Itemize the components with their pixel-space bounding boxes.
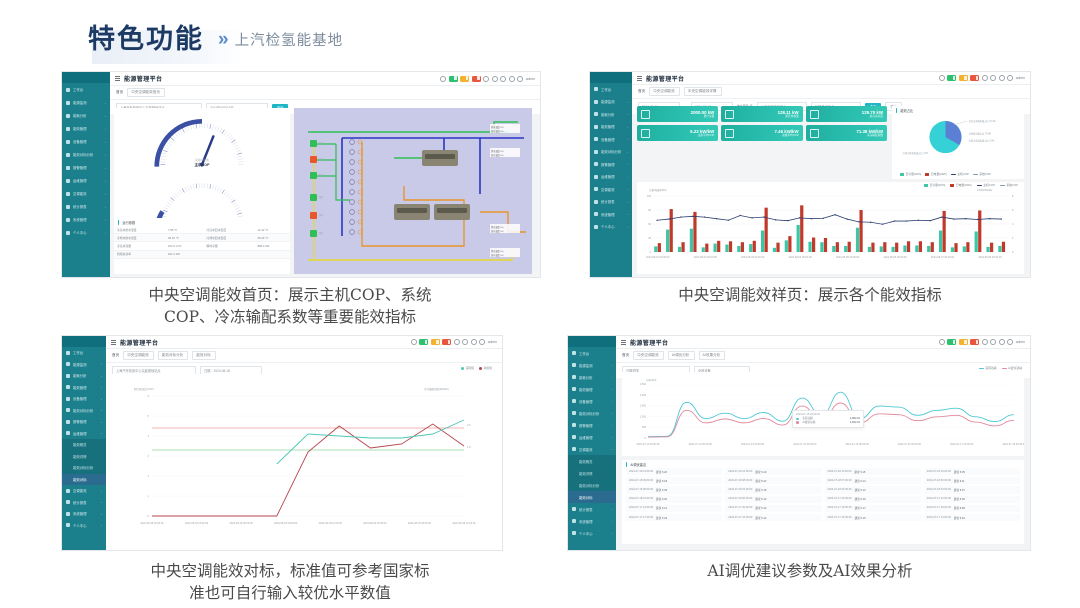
pie-chart-svg: 冷冻水泵耗电量占比 20.4% 主机耗电量占比 79.6% 冷却水泵耗电量占比 … (892, 113, 1024, 163)
sidebar-item-0[interactable]: 工作台 (62, 83, 110, 96)
breadcrumb-current[interactable]: 中央空调能效详情 (684, 87, 722, 96)
grid-icon[interactable] (982, 75, 988, 81)
ai-log-title: AI调优建议 (622, 460, 1024, 468)
chevron-right-icon: › (611, 519, 612, 523)
sidebar-item-label: 能效对标分析 (73, 152, 93, 157)
sidebar-item-label: 空调能效 (73, 191, 87, 196)
sidebar-item-icon (66, 374, 70, 378)
bell-icon[interactable] (990, 75, 996, 81)
caption-panel1: 中央空调能效首页：展示主机COP、系统COP、冷冻输配系数等重要能效指标 (78, 284, 502, 329)
sidebar-item-6[interactable]: 报警管理› (62, 161, 110, 174)
kpi-label: 总冷冻水量 (862, 115, 883, 118)
sidebar-item-3[interactable]: 能效管理› (568, 383, 616, 395)
log-value: 建议 5.18 (656, 479, 667, 483)
legend-item: 日电量(kWh) (950, 183, 971, 187)
svg-text:泵5: 泵5 (319, 213, 324, 217)
sidebar-item-9[interactable]: 统计报表› (590, 196, 632, 209)
log-timestamp: 2024-07-17 23:00:00 (828, 497, 852, 501)
grid-icon[interactable] (454, 339, 460, 345)
sidebar-item-7[interactable]: 运维管理› (590, 171, 632, 184)
svg-text:2024-07-13 00:00:00: 2024-07-13 00:00:00 (741, 443, 765, 446)
sidebar-item-label: 设备管理 (73, 139, 87, 144)
app-title: 能源管理平台 (120, 338, 158, 347)
log-row-14: 2024-07-17 23:00:00建议 5.19 (825, 496, 921, 503)
sidebar-item-7[interactable]: 运维管理› (62, 174, 110, 187)
sidebar-item-8[interactable]: 空调能效› (62, 485, 106, 497)
svg-text:6: 6 (1012, 209, 1014, 212)
svg-text:2024-07-15 00:00:00: 2024-07-15 00:00:00 (846, 443, 870, 446)
lock-icon[interactable] (1007, 75, 1013, 81)
chevron-right-icon: › (627, 125, 628, 129)
chevron-right-icon: › (105, 153, 106, 157)
sidebar-item-icon (66, 114, 70, 118)
sidebar-item-label: 工作台 (601, 87, 611, 92)
badge-green-icon[interactable] (947, 339, 956, 345)
page-subtitle: 上汽检氢能基地 (235, 29, 344, 50)
chevron-right-icon: › (627, 225, 628, 229)
sidebar-item-8[interactable]: 空调能效› (568, 443, 616, 455)
sidebar-item-label: 报警管理 (579, 423, 593, 428)
sidebar-item-label: 报警管理 (73, 419, 87, 424)
table-row: 冷却水供水温度30.10 ℃冷却水回水温度35.26 ℃ (114, 234, 290, 242)
chevron-right-icon: › (611, 507, 612, 511)
sidebar-item-icon (594, 225, 598, 229)
page-title: 特色功能 (88, 26, 204, 53)
sidebar-item-6[interactable]: 报警管理› (590, 158, 632, 171)
svg-text:500: 500 (642, 426, 647, 429)
svg-text:1,000: 1,000 (640, 415, 647, 418)
kpi-text: 5.23 kW/kW主机平均COP (690, 129, 714, 138)
sidebar-item-icon (594, 200, 598, 204)
table-cell: 12.42 ℃ (254, 226, 290, 234)
chevron-right-icon: › (611, 375, 612, 379)
sidebar-item-5[interactable]: 能效对标分析› (62, 148, 110, 161)
menu-toggle-icon[interactable] (111, 340, 116, 345)
log-timestamp: 2024-07-18 00:00:00 (728, 497, 752, 501)
log-row-22: 2024-07-17 15:00:00建议 5.15 (825, 514, 921, 521)
svg-text:2024-07-11 00:00:00: 2024-07-11 00:00:00 (636, 443, 660, 446)
table-cell: 7.85 ℃ (165, 226, 204, 234)
menu-toggle-icon[interactable] (621, 340, 626, 345)
log-timestamp: 2024-07-18 10:00:00 (927, 470, 951, 474)
svg-text:30: 30 (648, 237, 651, 240)
chevron-right-icon: › (611, 363, 612, 367)
screenshot-panel-1: 工作台能源监测›能耗分析›能效管理›设备管理›能效对标分析›报警管理›运维管理›… (62, 72, 540, 277)
breadcrumb-l3[interactable]: 能效对标分析 (158, 351, 189, 360)
chevron-right-icon: › (105, 231, 106, 235)
sidebar-item-icon (66, 385, 70, 389)
chevron-right-icon: › (101, 408, 102, 412)
log-row-19: 2024-07-17 18:00:00建议 5.08 (924, 505, 1020, 512)
search-icon[interactable] (939, 75, 945, 81)
fullscreen-icon[interactable] (471, 339, 477, 345)
sidebar-item-4[interactable]: 设备管理› (568, 395, 616, 407)
bell-icon[interactable] (990, 339, 996, 345)
svg-text:4: 4 (148, 435, 150, 438)
log-timestamp: 2024-07-17 21:00:00 (629, 506, 653, 510)
topbar-actions: admin (939, 339, 1025, 345)
sidebar-item-icon (572, 531, 576, 535)
ai-chart-legend: 实际功耗 AI建议功耗 (979, 366, 1022, 370)
kpi-card-4[interactable]: 7.46 kW/kW系统平均COP (721, 125, 802, 141)
bell-icon[interactable] (462, 339, 468, 345)
breadcrumb-home[interactable]: 首页 (638, 89, 645, 94)
caption-panel4: AI调优建议参数及AI效果分析 (600, 560, 1020, 582)
log-timestamp: 2024-07-18 02:00:00 (927, 488, 951, 492)
user-name[interactable]: admin (488, 340, 497, 344)
flow-diagram[interactable]: 泵1泵2泵3泵4泵5泵6 供水温度 0.0回水温度 0.0供水温度 0.0回水温… (294, 108, 532, 274)
sidebar-subitem-1[interactable]: 能效详情 (62, 451, 106, 463)
legend-item: AI建议功耗 (1002, 366, 1022, 370)
badge-red-icon[interactable] (442, 339, 451, 345)
sidebar-subitem-3[interactable]: 能效对标 (62, 474, 106, 486)
table-cell: 冷却水回水温度 (204, 234, 255, 242)
chevron-right-icon: › (611, 423, 612, 427)
breadcrumb-l2[interactable]: 中央空调能效 (649, 87, 680, 96)
sidebar-item-5[interactable]: 能效对标分析› (590, 146, 632, 159)
kpi-card-5[interactable]: 71.38 kW/kW冷冻输配系数 (806, 125, 887, 141)
sidebar-item-label: 系统管理 (579, 519, 593, 524)
chevron-double-right-icon: » (218, 29, 226, 51)
badge-yellow-icon[interactable] (959, 339, 968, 345)
chevron-right-icon: › (611, 531, 612, 535)
log-value: 建议 5.07 (954, 488, 965, 492)
kpi-label: 主机平均COP (690, 134, 714, 137)
breadcrumb: 首页 中央空调能效 能效对标分析 能效对标 (106, 349, 502, 363)
svg-text:泵4: 泵4 (319, 195, 324, 199)
grid-icon[interactable] (483, 76, 489, 82)
user-name[interactable]: admin (526, 77, 535, 81)
svg-text:2024-08-02 00:00:00: 2024-08-02 00:00:00 (694, 256, 718, 259)
lock-icon[interactable] (1007, 339, 1013, 345)
sidebar-item-10[interactable]: 系统管理› (590, 208, 632, 221)
chevron-right-icon: › (627, 212, 628, 216)
params-table-title: 运行参数 (114, 218, 290, 226)
chevron-right-icon: › (105, 114, 106, 118)
menu-toggle-icon[interactable] (637, 76, 642, 81)
topbar: 能源管理平台 admin (632, 72, 1030, 85)
y2-axis-label: COP(kW/kW) (977, 189, 992, 192)
sidebar-item-9[interactable]: 统计报表› (62, 200, 110, 213)
sidebar-item-label: 系统管理 (601, 212, 615, 217)
main-area: 能源管理平台 admin 首页 中央空调能效首页 (110, 72, 540, 277)
sidebar-item-2[interactable]: 能耗分析› (568, 371, 616, 383)
sidebar-item-3[interactable]: 能效管理› (62, 382, 106, 394)
sidebar: 工作台能源监测›能耗分析›能效管理›设备管理›能效对标分析›报警管理›运维管理›… (62, 336, 106, 550)
badge-red-icon[interactable] (472, 76, 481, 82)
table-cell: 35.26 ℃ (254, 234, 290, 242)
main-area: 能源管理平台 admin 首页 中央空调能效 中央空调能效详情 (632, 72, 1030, 277)
snow-icon (641, 110, 650, 119)
badge-yellow-icon[interactable] (431, 339, 440, 345)
sidebar-item-0[interactable]: 工作台 (568, 347, 616, 359)
sidebar-item-label: 个人中心 (601, 224, 615, 229)
svg-text:2024-08-18 15:00:00: 2024-08-18 15:00:00 (363, 522, 387, 525)
ai-effect-chart[interactable]: 05001,0001,5002,0002,500 2024-07-11 00:0… (622, 372, 1024, 456)
sidebar-item-icon (66, 231, 70, 235)
sidebar-item-0[interactable]: 工作台 (62, 347, 106, 359)
lock-icon[interactable] (509, 76, 515, 82)
chevron-right-icon: › (611, 411, 612, 415)
svg-text:1: 1 (148, 495, 150, 498)
table-cell: 冷冻水回水温度 (204, 226, 255, 234)
grid-icon[interactable] (982, 339, 988, 345)
sidebar-item-10[interactable]: 系统管理› (62, 213, 110, 226)
legend-item: 系统COP (1000, 183, 1018, 187)
main-area: 能源管理平台 admin 首页 中央空调能效 AI调优分析 AI效果分析 (616, 336, 1030, 550)
table-cell (254, 250, 290, 258)
sidebar-item-2[interactable]: 能耗分析› (590, 108, 632, 121)
sidebar-item-label: 空调能效 (73, 488, 87, 493)
log-timestamp: 2024-07-18 01:00:00 (629, 497, 653, 501)
sidebar-item-label: 能耗分析 (601, 112, 615, 117)
badge-green-icon[interactable] (419, 339, 428, 345)
sidebar-item-icon (594, 150, 598, 154)
sidebar-item-icon (594, 212, 598, 216)
energy-bar-chart[interactable]: 0306090120 2024-08-01 00:00:002024-08-02… (637, 182, 1024, 274)
sidebar-item-9[interactable]: 统计报表› (568, 503, 616, 515)
chevron-right-icon: › (105, 218, 106, 222)
chevron-right-icon: › (105, 101, 106, 105)
sidebar-item-icon (572, 387, 576, 391)
badge-red-icon[interactable] (970, 75, 979, 81)
sidebar-item-2[interactable]: 能耗分析› (62, 109, 110, 122)
badge-green-icon[interactable] (947, 75, 956, 81)
sidebar-item-3[interactable]: 能效管理› (590, 121, 632, 134)
sidebar-item-icon (572, 399, 576, 403)
sidebar-item-10[interactable]: 系统管理› (568, 515, 616, 527)
sidebar-item-label: 统计报表 (579, 507, 593, 512)
sidebar-item-4[interactable]: 设备管理› (62, 393, 106, 405)
chevron-right-icon: › (101, 397, 102, 401)
badge-green-icon[interactable] (449, 76, 458, 82)
sidebar-item-8[interactable]: 空调能效› (62, 187, 110, 200)
breadcrumb-current[interactable]: 中央空调能效首页 (127, 88, 165, 97)
sidebar-item-label: 能源监测 (73, 362, 87, 367)
screenshot-panel-3: 工作台能源监测›能耗分析›能效管理›设备管理›能效对标分析›报警管理›运维管理›… (62, 336, 502, 550)
breadcrumb-current[interactable]: AI效果分析 (699, 351, 726, 360)
sidebar-item-11[interactable]: 个人中心› (590, 221, 632, 234)
log-value: 建议 5.15 (854, 470, 865, 474)
svg-text:2024-08-05 00:00:00: 2024-08-05 00:00:00 (836, 256, 860, 259)
sidebar-item-icon (572, 423, 576, 427)
sidebar-item-label: 个人中心 (73, 523, 87, 528)
sidebar-item-label: 能效管理 (601, 124, 615, 129)
sidebar-item-icon (66, 512, 70, 516)
sidebar-subitem-1[interactable]: 能效详情 (568, 467, 616, 479)
help-icon[interactable] (517, 76, 523, 82)
svg-text:5: 5 (148, 415, 150, 418)
legend-item: 实际值 (461, 366, 474, 370)
menu-toggle-icon[interactable] (115, 76, 120, 81)
sidebar-item-6[interactable]: 报警管理› (62, 416, 106, 428)
svg-text:2024-08-18 12:00:00: 2024-08-18 12:00:00 (319, 522, 343, 525)
sidebar-item-label: 运维管理 (73, 178, 87, 183)
bell-icon[interactable] (492, 76, 498, 82)
sidebar-item-icon (572, 411, 576, 415)
sidebar-item-icon (594, 100, 598, 104)
badge-yellow-icon[interactable] (959, 75, 968, 81)
search-icon[interactable] (440, 76, 446, 82)
sidebar-item-1[interactable]: 能源监测› (590, 96, 632, 109)
log-value: 建议 5.11 (954, 479, 965, 483)
legend-item: 对标值 (479, 366, 492, 370)
sidebar-item-icon (594, 162, 598, 166)
breadcrumb-home[interactable]: 首页 (622, 353, 629, 358)
sidebar-item-5[interactable]: 能效对标分析› (62, 405, 106, 417)
chevron-right-icon: › (611, 399, 612, 403)
log-timestamp: 2024-07-18 09:00:00 (629, 479, 653, 483)
chevron-right-icon: › (101, 489, 102, 493)
sidebar-item-3[interactable]: 能效管理› (62, 122, 110, 135)
fullscreen-icon[interactable] (500, 76, 506, 82)
log-timestamp: 2024-07-17 22:00:00 (927, 497, 951, 501)
sidebar-item-4[interactable]: 设备管理› (62, 135, 110, 148)
sidebar-item-9[interactable]: 统计报表› (62, 497, 106, 509)
sidebar-subitem-0[interactable]: 能效概览 (568, 455, 616, 467)
svg-text:2024-08-01 00:00:00: 2024-08-01 00:00:00 (646, 256, 670, 259)
chevron-right-icon: › (627, 100, 628, 104)
log-timestamp: 2024-07-17 18:00:00 (927, 506, 951, 510)
sidebar-item-icon (594, 87, 598, 91)
chevron-right-icon: › (105, 179, 106, 183)
sidebar-item-label: 工作台 (73, 350, 83, 355)
sidebar-item-0[interactable]: 工作台 (590, 83, 632, 96)
sidebar-item-7[interactable]: 运维管理› (62, 428, 106, 440)
svg-text:泵2: 泵2 (319, 157, 324, 161)
sidebar-item-1[interactable]: 能源监测› (568, 359, 616, 371)
sidebar-subitem-label: 能效对标分析 (579, 483, 599, 488)
legend-item: 日冷量(kWh) (924, 183, 945, 187)
kpi-label: 累计冷量 (691, 115, 715, 118)
sidebar-subitem-label: 能效详情 (579, 471, 593, 476)
log-row-2: 2024-07-18 11:00:00建议 5.15 (825, 468, 921, 475)
log-value: 建议 5.16 (755, 488, 766, 492)
log-row-0: 2024-07-18 13:00:00建议 5.20 (626, 468, 722, 475)
sidebar-item-7[interactable]: 运维管理› (568, 431, 616, 443)
sidebar-subitem-3[interactable]: 能效对标 (568, 491, 616, 503)
pie-legend: 日冷量(kWh) 日电量(kWh) 主机COP 系统COP (900, 172, 991, 176)
sidebar-item-1[interactable]: 能源监测› (62, 96, 110, 109)
log-row-11: 2024-07-18 02:00:00建议 5.07 (924, 486, 1020, 493)
main-area: 能源管理平台 admin 首页 中央空调能效 能效对标分析 能效对标 (106, 336, 502, 550)
sidebar-item-icon (66, 523, 70, 527)
sidebar-subitem-0[interactable]: 能效概览 (62, 439, 106, 451)
topbar-actions: admin (939, 75, 1025, 81)
user-name[interactable]: admin (1016, 340, 1025, 344)
log-timestamp: 2024-07-18 12:00:00 (728, 470, 752, 474)
badge-yellow-icon[interactable] (460, 76, 469, 82)
benchmark-line-chart[interactable]: 0123456 2024-08-18 00:00:002024-08-18 03… (112, 374, 498, 540)
sidebar-subitem-label: 能效对标 (579, 495, 593, 500)
table-cell: 151.6 m³/h (165, 242, 204, 250)
svg-text:0: 0 (650, 251, 652, 254)
kpi-text: 71.38 kW/kW冷冻输配系数 (856, 129, 883, 138)
breadcrumb-current[interactable]: 能效对标 (192, 351, 215, 360)
kpi-card-3[interactable]: 5.23 kW/kW主机平均COP (637, 125, 718, 141)
breadcrumb: 首页 中央空调能效 中央空调能效详情 (632, 85, 1030, 99)
fullscreen-icon[interactable] (999, 75, 1005, 81)
sidebar-item-11[interactable]: 个人中心› (62, 520, 106, 532)
lock-icon[interactable] (479, 339, 485, 345)
sidebar-item-icon (594, 175, 598, 179)
pie-annotation-2: 主机耗电量占比 79.6% (969, 131, 991, 135)
chevron-right-icon: › (101, 385, 102, 389)
breadcrumb-l2[interactable]: 中央空调能效 (633, 351, 664, 360)
svg-text:2024-07-16 00:00:00: 2024-07-16 00:00:00 (898, 443, 922, 446)
sidebar-item-11[interactable]: 个人中心› (568, 527, 616, 539)
search-icon[interactable] (411, 339, 417, 345)
svg-text:2024-08-18 06:00:00: 2024-08-18 06:00:00 (230, 522, 254, 525)
sidebar-item-icon (66, 166, 70, 170)
chevron-right-icon: › (627, 137, 628, 141)
app-title: 能源管理平台 (124, 74, 162, 83)
breadcrumb-l3[interactable]: AI调优分析 (668, 351, 695, 360)
log-value: 建议 5.13 (755, 497, 766, 501)
sidebar-item-2[interactable]: 能耗分析› (62, 370, 106, 382)
log-value: 建议 5.17 (855, 506, 866, 510)
kpi-text: 2000.00 kW累计冷量 (691, 110, 715, 119)
badge-red-icon[interactable] (970, 339, 979, 345)
topbar-actions: admin (440, 76, 535, 82)
breadcrumb-l2[interactable]: 中央空调能效 (123, 351, 154, 360)
user-name[interactable]: admin (1016, 76, 1025, 80)
sidebar-item-10[interactable]: 系统管理› (62, 508, 106, 520)
sidebar-item-5[interactable]: 能效对标分析› (568, 407, 616, 419)
gauge-icon (641, 129, 650, 138)
chevron-right-icon: › (101, 420, 102, 424)
log-value: 建议 5.23 (656, 516, 667, 520)
log-row-20: 2024-07-17 17:00:00建议 5.23 (626, 514, 722, 521)
sidebar-item-icon (66, 420, 70, 424)
sidebar-subitem-2[interactable]: 能效对标分析 (62, 462, 106, 474)
sidebar-item-1[interactable]: 能源监测› (62, 359, 106, 371)
legend-item: 系统COP (973, 172, 991, 176)
chevron-right-icon: › (627, 162, 628, 166)
log-timestamp: 2024-07-17 14:00:00 (927, 516, 951, 520)
sidebar-item-11[interactable]: 个人中心› (62, 226, 110, 239)
sidebar-item-4[interactable]: 设备管理› (590, 133, 632, 146)
pie-card: 能效占比 冷冻水泵耗电量占比 20.4% 主机耗电量占比 79.6% 冷却水泵耗… (892, 106, 1024, 179)
kpi-card-2[interactable]: 129.70 kW总冷冻水量 (806, 106, 887, 122)
sidebar-item-8[interactable]: 空调能效› (590, 183, 632, 196)
svg-text:2024-07-12 00:00:00: 2024-07-12 00:00:00 (689, 443, 713, 446)
pie-annotation-1: 冷冻水泵耗电量占比 20.4% (969, 119, 996, 123)
chevron-right-icon: › (627, 200, 628, 204)
log-row-6: 2024-07-18 07:00:00建议 5.14 (825, 477, 921, 484)
breadcrumb-home[interactable]: 首页 (112, 353, 119, 358)
sidebar: 工作台能源监测›能耗分析›能效管理›设备管理›能效对标分析›报警管理›运维管理›… (590, 72, 632, 277)
y-axis-label: 冷量/电量(kWh) (649, 188, 667, 192)
log-row-4: 2024-07-18 09:00:00建议 5.18 (626, 477, 722, 484)
fullscreen-icon[interactable] (999, 339, 1005, 345)
table-cell (204, 250, 255, 258)
svg-text:2: 2 (1012, 237, 1014, 240)
bolt-icon (725, 110, 734, 119)
breadcrumb-home[interactable]: 首页 (116, 90, 123, 95)
sidebar-item-icon (572, 519, 576, 523)
log-value: 建议 5.10 (755, 470, 766, 474)
kpi-card-0[interactable]: 2000.00 kW累计冷量 (637, 106, 718, 122)
sidebar-subitem-2[interactable]: 能效对标分析 (568, 479, 616, 491)
sidebar-item-label: 能源监测 (601, 99, 615, 104)
kpi-card-1[interactable]: 128.11 kW累计用电量 (721, 106, 802, 122)
sidebar-item-label: 统计报表 (73, 204, 87, 209)
sidebar-item-6[interactable]: 报警管理› (568, 419, 616, 431)
search-icon[interactable] (939, 339, 945, 345)
sidebar-header (568, 336, 616, 347)
caption-panel2: 中央空调能效祥页：展示各个能效指标 (600, 284, 1020, 306)
